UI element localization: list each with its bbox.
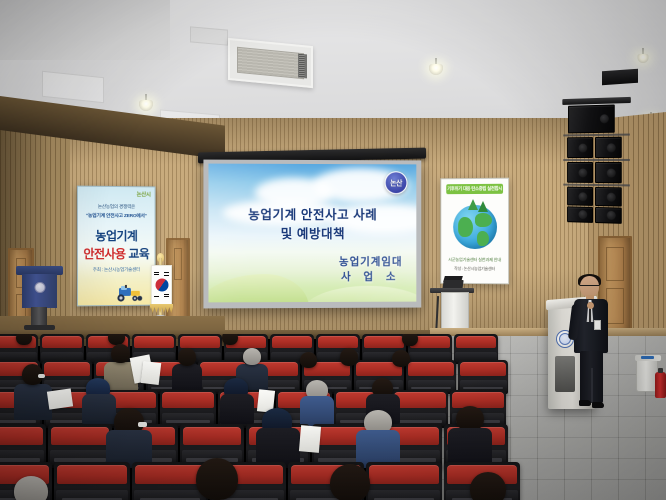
glasses-icon <box>580 285 599 289</box>
speaker-box-4 <box>567 162 593 183</box>
tractor-icon <box>108 285 148 302</box>
ac-vent <box>298 54 307 79</box>
ceiling-speaker-bracket <box>602 69 638 86</box>
banner-main-line-1: 농업기계 <box>78 227 155 244</box>
attendee-head <box>111 344 130 363</box>
slide-hill-right <box>303 286 416 303</box>
seat[interactable] <box>406 360 456 394</box>
door-panel-5 <box>174 248 182 280</box>
audience-seating-area <box>0 334 666 500</box>
banner-carbon-neutral: 기후위기 대응 탄소중립 실천합시다! 시군농업기술센터 실천과제 안내 작성 … <box>440 178 509 285</box>
attendee-head <box>392 350 410 367</box>
attendee-head <box>178 348 196 366</box>
line-array-speaker-icon <box>566 102 627 221</box>
speaker-box-8 <box>567 206 593 223</box>
banner-safety-education: 논산시 논산농업의 경쟁력은 "농업기계 안전사고 ZERO에서" 농업기계 안… <box>77 186 156 307</box>
slide-organization: 농업기계임대 사 업 소 <box>339 254 403 286</box>
slide-logo-text: 논산 <box>390 178 402 188</box>
attendee-body <box>82 394 116 424</box>
speaker-box-3 <box>595 137 622 158</box>
speaker-box-2 <box>567 137 593 158</box>
banner-subtitle-2: "농업기계 안전사고 ZERO에서" <box>78 212 155 219</box>
slide-hill-left <box>208 274 309 302</box>
attendee-head <box>243 348 261 365</box>
eco-banner-caption-2: 작성 : 논산시농업기술센터 <box>441 266 508 272</box>
attendee-head <box>402 334 418 346</box>
banner-organizer: 주최 : 논산시농업기술센터 <box>78 267 155 273</box>
seat[interactable] <box>392 390 448 428</box>
attendee-body <box>172 364 202 392</box>
attendee-head <box>340 348 358 366</box>
slide-logo-icon: 논산 <box>385 171 408 194</box>
speaker-rail-2 <box>563 159 630 161</box>
ceiling-access-panel <box>42 71 104 104</box>
globe-landmass-3 <box>476 231 488 246</box>
tree-icon-1 <box>468 199 478 210</box>
air-conditioner-icon <box>228 38 313 88</box>
face-mask-icon <box>138 422 147 427</box>
lectern-stem <box>31 307 47 327</box>
banner-city-mark: 논산시 <box>137 190 151 198</box>
eco-banner-header: 기후위기 대응 탄소중립 실천합시다! <box>446 184 503 194</box>
spotlight-icon-1 <box>138 94 154 114</box>
handout-paper <box>299 425 321 453</box>
attendee-body <box>14 384 52 420</box>
spotlight-icon-3 <box>636 48 650 66</box>
banner-main-red: 안전사용 <box>83 247 125 261</box>
speaker-box-7 <box>595 187 622 207</box>
seat[interactable] <box>366 462 442 500</box>
taegeuk-symbol <box>155 279 168 292</box>
seat[interactable] <box>160 390 216 428</box>
banner-main-line-2: 안전사용 교육 <box>78 245 155 262</box>
auditorium-photo: 논산시 논산농업의 경쟁력은 "농업기계 안전사고 ZERO에서" 농업기계 안… <box>0 0 666 500</box>
ac-grille <box>237 47 304 79</box>
attendee-body <box>300 396 334 426</box>
speaker-box-9 <box>595 207 622 224</box>
tree-icon-2 <box>478 201 488 212</box>
attendee-head <box>470 472 506 500</box>
slide-org-line-1: 농업기계임대 <box>339 254 403 270</box>
spotlight-icon-2 <box>428 58 444 78</box>
flag-cloth <box>151 265 172 305</box>
slide-title-line-1: 농업기계 안전사고 사례 <box>208 206 416 226</box>
cart-cabinet <box>441 292 469 330</box>
ceiling-shadow <box>0 0 170 60</box>
eco-banner-caption-1: 시군농업기술센터 실천과제 안내 <box>441 257 508 263</box>
seat[interactable] <box>54 462 130 500</box>
attendee-head <box>300 352 317 368</box>
attendee-body <box>220 394 254 424</box>
speaker-box-5 <box>595 162 622 183</box>
handout-paper <box>141 361 162 385</box>
presentation-slide: 논산 농업기계 안전사고 사례 및 예방대책 농업기계임대 사 업 소 <box>208 164 416 303</box>
slide-title: 농업기계 안전사고 사례 및 예방대책 <box>208 206 416 245</box>
speaker-box-6 <box>567 187 593 206</box>
slide-org-line-2: 사 업 소 <box>339 270 403 286</box>
banner-subtitle-1: 논산농업의 경쟁력은 <box>78 204 155 211</box>
speaker-box-1 <box>568 104 615 133</box>
attendee-head <box>330 464 370 500</box>
lectern-emblem-icon <box>34 282 45 293</box>
globe-icon <box>453 205 497 249</box>
presenter-hand <box>587 302 594 309</box>
slide-title-line-2: 및 예방대책 <box>208 225 416 244</box>
handout-paper <box>47 388 73 409</box>
banner-main-dark: 교육 <box>128 247 149 261</box>
globe-landmass-1 <box>458 217 473 237</box>
id-badge-icon <box>594 320 601 330</box>
projection-screen: 논산 농업기계 안전사고 사례 및 예방대책 농업기계임대 사 업 소 <box>203 160 421 309</box>
attendee-head <box>14 476 48 500</box>
attendee-head <box>222 334 238 345</box>
lectern[interactable] <box>20 266 59 328</box>
ceiling-vent-slot <box>190 26 228 45</box>
attendee-head <box>16 334 32 345</box>
seat[interactable] <box>458 360 508 394</box>
flag-fringe <box>150 304 173 313</box>
attendee-head <box>196 458 238 500</box>
face-mask-icon <box>38 374 45 378</box>
globe-landmass-2 <box>475 213 492 227</box>
speaker-rigging-bar <box>562 97 630 105</box>
